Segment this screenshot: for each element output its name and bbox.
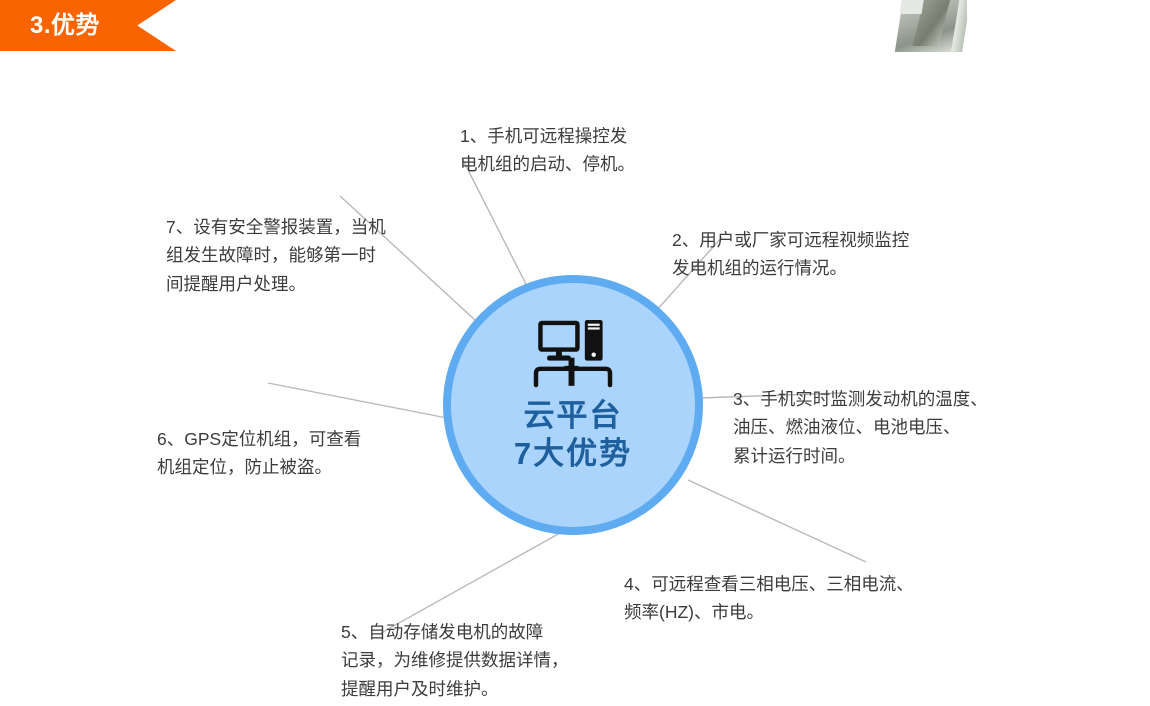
advantage-item-7: 7、设有安全警报装置，当机 组发生故障时，能够第一时 间提醒用户处理。 <box>166 213 451 298</box>
spoke-line-4 <box>688 480 866 562</box>
advantage-item-2: 2、用户或厂家可远程视频监控 发电机组的运行情况。 <box>672 226 972 283</box>
spoke-line-6 <box>268 383 447 418</box>
hub-title-line2: 7大优势 <box>514 435 632 473</box>
advantage-item-4: 4、可远程查看三相电压、三相电流、 频率(HZ)、市电。 <box>624 570 976 627</box>
hub-circle: 云平台 7大优势 <box>443 275 703 535</box>
desktop-computer-network-icon <box>525 317 621 391</box>
hub-title-line1: 云平台 <box>524 398 623 433</box>
hub-title: 云平台 7大优势 <box>514 397 632 473</box>
advantage-item-6: 6、GPS定位机组，可查看 机组定位，防止被盗。 <box>157 425 409 482</box>
advantage-item-5: 5、自动存储发电机的故障 记录，为维修提供数据详情， 提醒用户及时维护。 <box>341 618 603 703</box>
advantage-item-1: 1、手机可远程操控发 电机组的启动、停机。 <box>460 122 692 179</box>
advantage-item-3: 3、手机实时监测发动机的温度、 油压、燃油液位、电池电压、 累计运行时间。 <box>733 385 1043 470</box>
